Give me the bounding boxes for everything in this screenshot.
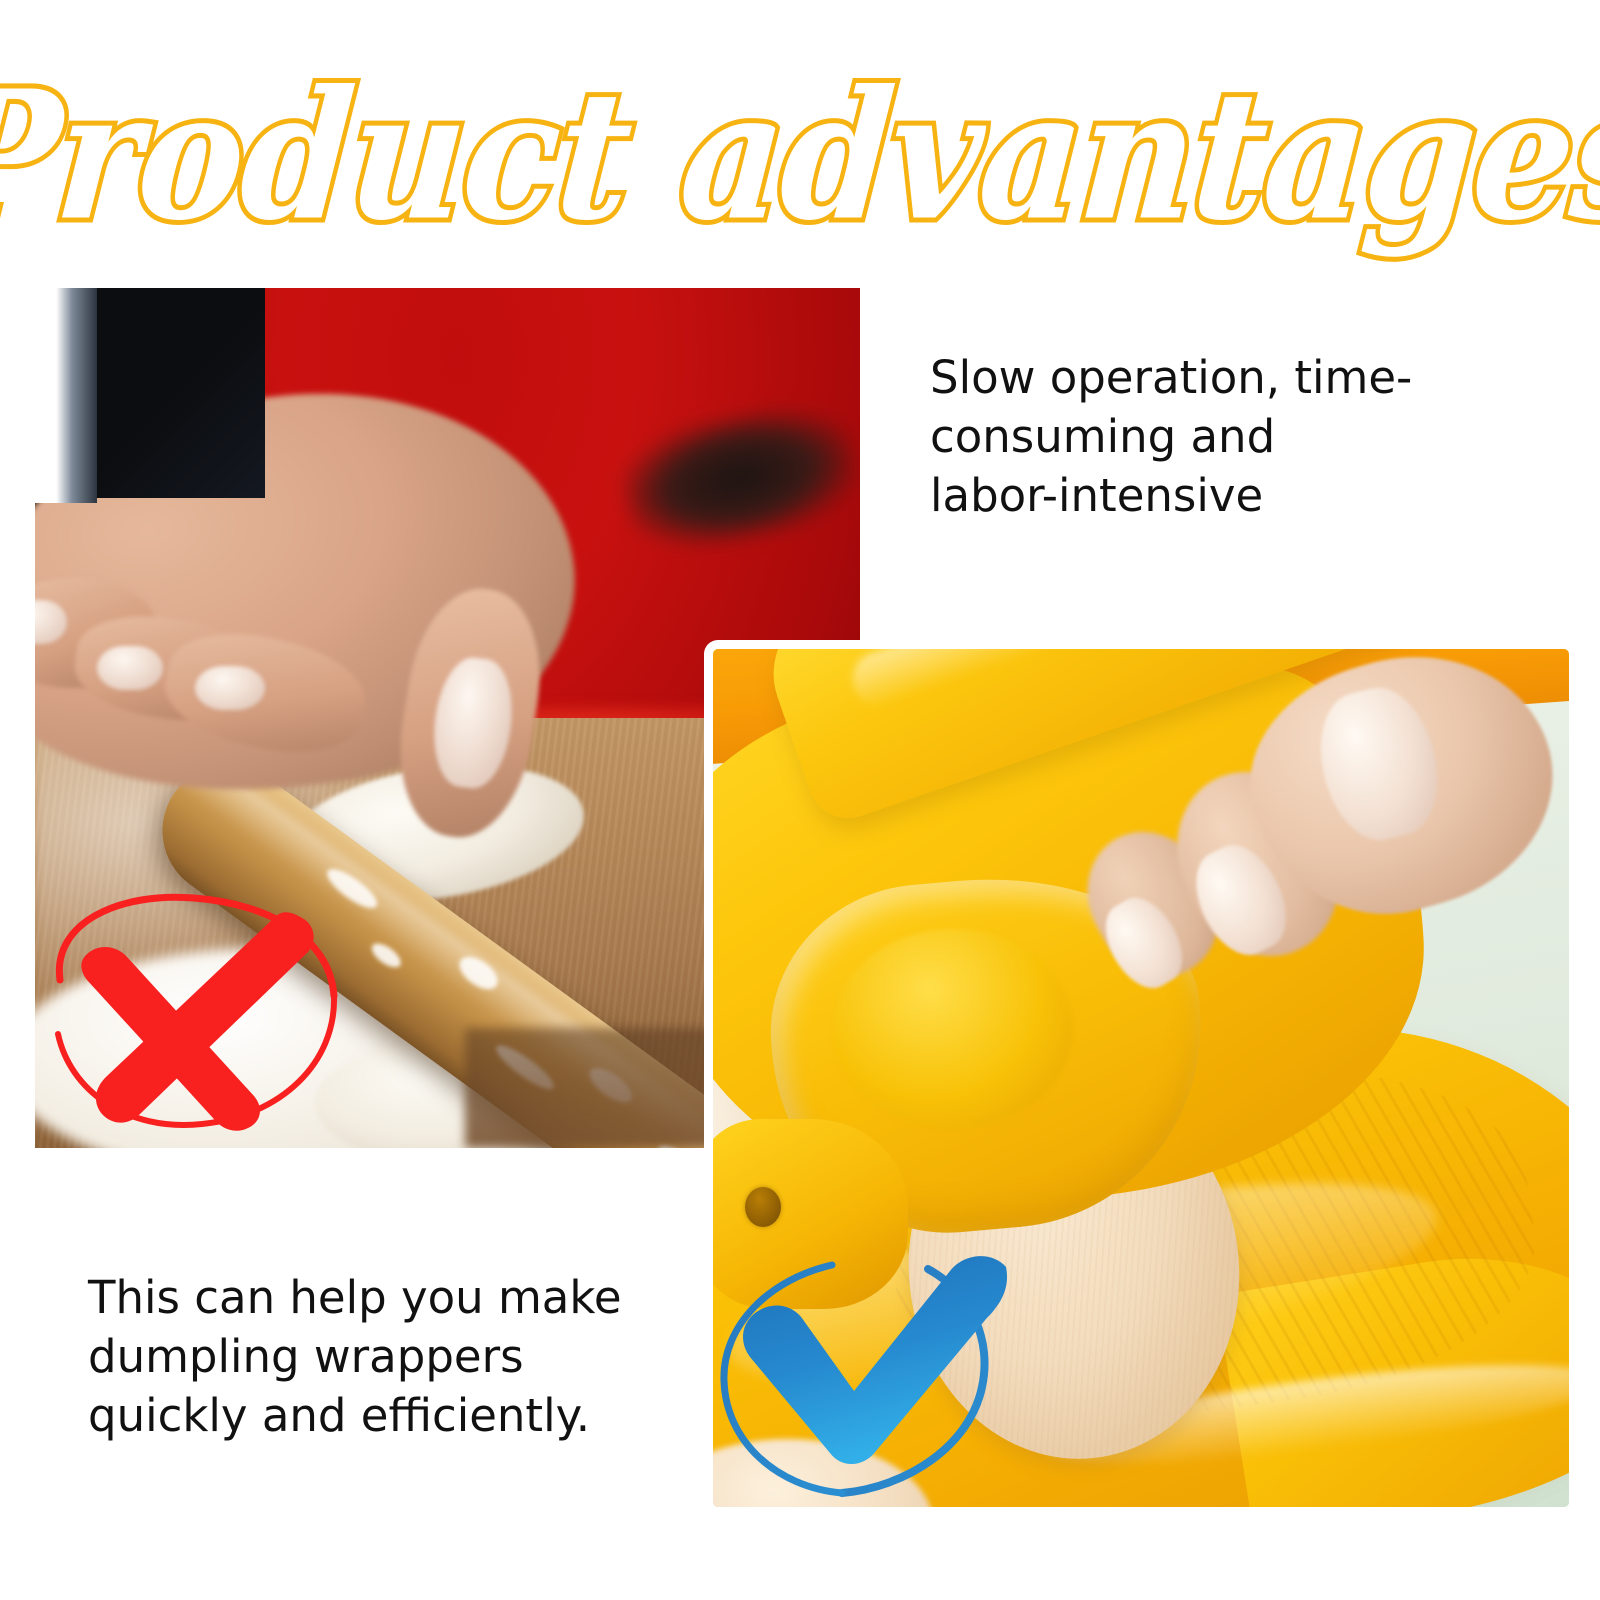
x-mark-icon — [44, 884, 344, 1134]
page-title: Product advantages — [0, 69, 1600, 246]
photo-edge-gradient — [35, 288, 97, 503]
press-hinge-hole — [745, 1187, 781, 1227]
advantage-caption: This can help you make dumpling wrappers… — [88, 1268, 648, 1445]
fingernail — [195, 666, 265, 710]
disadvantage-caption: Slow operation, time- consuming and labo… — [930, 348, 1490, 525]
fingernail — [97, 646, 163, 690]
check-mark-icon — [710, 1245, 1010, 1500]
advertisement-page: Product advantages — [0, 0, 1600, 1600]
page-title-wrapper: Product advantages — [0, 62, 1600, 252]
press-lid-cup-inner — [833, 929, 1073, 1129]
